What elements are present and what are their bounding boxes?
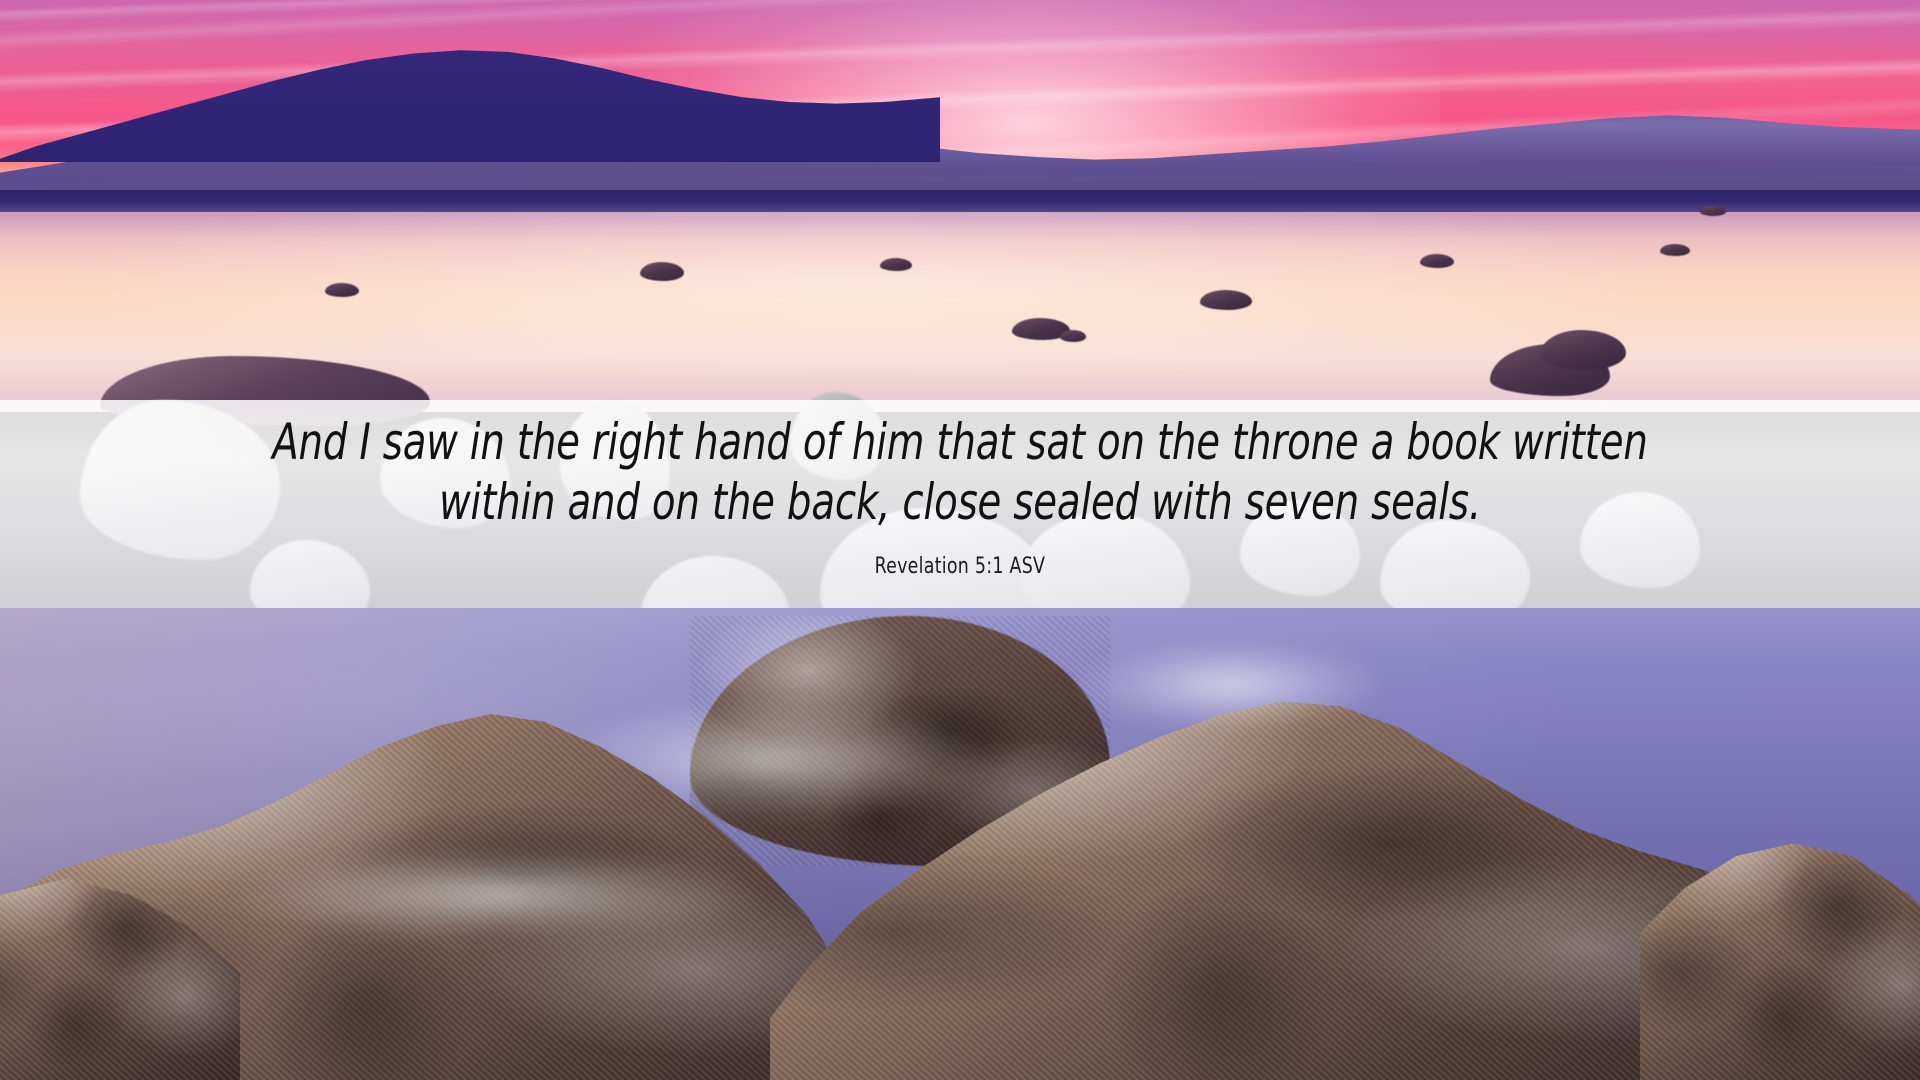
distant-rock-7 (1420, 254, 1454, 268)
verse-line-2: within and on the back, close sealed wit… (203, 472, 1717, 532)
distant-rock-9 (1700, 206, 1726, 216)
distant-rock-11 (1540, 330, 1626, 370)
distant-rock-5 (1060, 330, 1086, 342)
verse-text: And I saw in the right hand of him that … (203, 412, 1717, 532)
verse-reference: Revelation 5:1 ASV (875, 554, 1046, 579)
wallpaper-canvas: And I saw in the right hand of him that … (0, 0, 1920, 1080)
distant-rock-6 (1200, 290, 1252, 310)
distant-rock-8 (1660, 244, 1690, 256)
distant-rock-2 (640, 262, 684, 281)
water-mist-2 (240, 850, 760, 940)
distant-rock-1 (325, 283, 359, 297)
verse-line-1: And I saw in the right hand of him that … (203, 412, 1717, 472)
water-mist-3 (1080, 640, 1380, 730)
distant-rock-3 (880, 258, 912, 271)
verse-overlay-band: And I saw in the right hand of him that … (0, 400, 1920, 612)
